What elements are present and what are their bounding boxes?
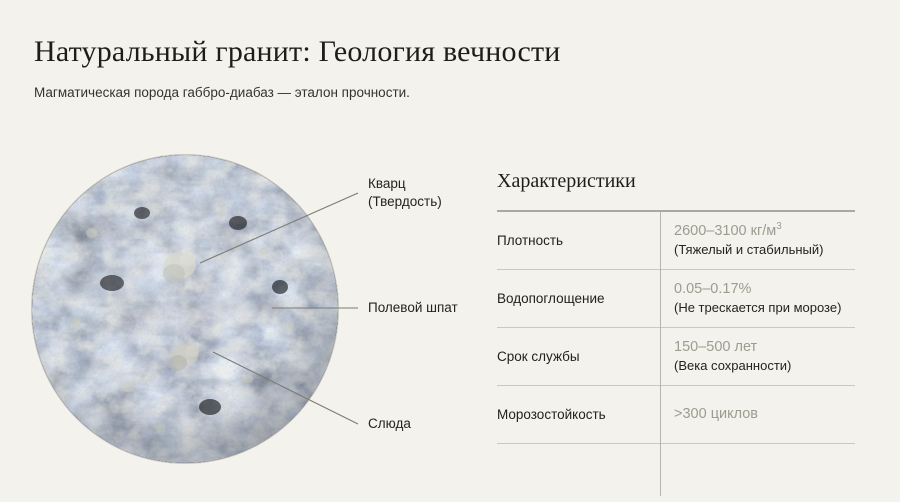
property-value: >300 циклов bbox=[674, 405, 855, 424]
properties-heading: Характеристики bbox=[497, 170, 855, 193]
page-header: Натуральный гранит: Геология вечности Ма… bbox=[34, 34, 854, 102]
callout-quartz: Кварц (Твердость) bbox=[368, 175, 442, 211]
property-note: (Века сохранности) bbox=[674, 357, 855, 374]
property-name: Водопоглощение bbox=[497, 290, 660, 308]
property-value-cell: 150–500 лет (Века сохранности) bbox=[660, 338, 855, 374]
callout-feldspar-label: Полевой шпат bbox=[368, 300, 458, 315]
properties-table: Плотность 2600–3100 кг/м3 (Тяжелый и ста… bbox=[497, 210, 855, 444]
callout-quartz-label: Кварц bbox=[368, 176, 406, 191]
page-subtitle: Магматическая порода габбро-диабаз — эта… bbox=[34, 84, 854, 102]
property-value-cell: >300 циклов bbox=[660, 405, 855, 424]
callout-mica: Слюда bbox=[368, 415, 411, 433]
callout-mica-label: Слюда bbox=[368, 416, 411, 431]
callout-feldspar: Полевой шпат bbox=[368, 299, 458, 317]
property-name: Морозостойкость bbox=[497, 406, 660, 424]
granite-disc-image bbox=[32, 155, 338, 463]
property-value: 0.05–0.17% bbox=[674, 280, 855, 299]
property-note: (Не трескается при морозе) bbox=[674, 299, 855, 316]
property-value-cell: 2600–3100 кг/м3 (Тяжелый и стабильный) bbox=[660, 222, 855, 258]
callout-quartz-sublabel: (Твердость) bbox=[368, 193, 442, 211]
granite-specimen-figure bbox=[32, 155, 338, 463]
properties-panel: Характеристики Плотность 2600–3100 кг/м3… bbox=[497, 170, 855, 444]
property-value-cell: 0.05–0.17% (Не трескается при морозе) bbox=[660, 280, 855, 316]
table-column-divider bbox=[660, 212, 661, 496]
table-row: Водопоглощение 0.05–0.17% (Не трескается… bbox=[497, 270, 855, 328]
page-title: Натуральный гранит: Геология вечности bbox=[34, 34, 854, 70]
table-row: Срок службы 150–500 лет (Века сохранност… bbox=[497, 328, 855, 386]
property-value: 2600–3100 кг/м3 bbox=[674, 222, 855, 241]
property-value: 150–500 лет bbox=[674, 338, 855, 357]
property-name: Срок службы bbox=[497, 348, 660, 366]
table-row: Морозостойкость >300 циклов bbox=[497, 386, 855, 444]
property-note: (Тяжелый и стабильный) bbox=[674, 241, 855, 258]
table-row: Плотность 2600–3100 кг/м3 (Тяжелый и ста… bbox=[497, 212, 855, 270]
granite-texture-svg bbox=[32, 155, 338, 463]
property-name: Плотность bbox=[497, 232, 660, 250]
